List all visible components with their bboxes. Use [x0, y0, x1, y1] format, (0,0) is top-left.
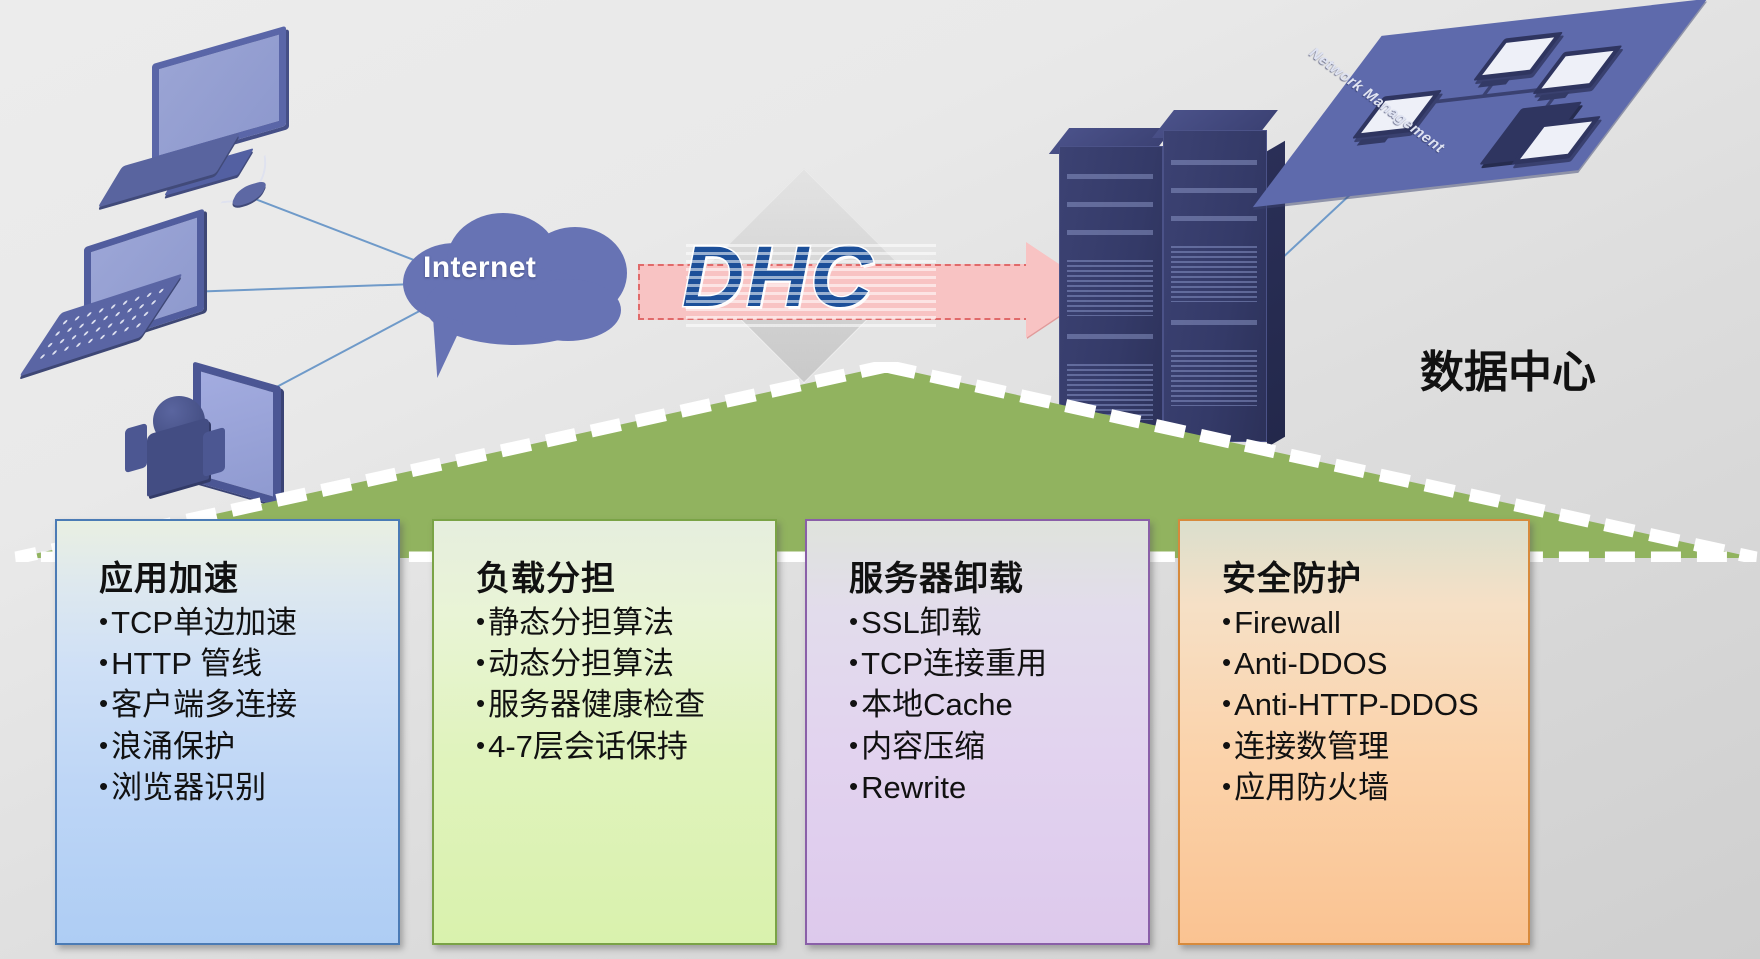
panel-server-offload[interactable]: 服务器卸载 SSL卸载 TCP连接重用 本地Cache 内容压缩 Rewrite: [805, 519, 1150, 945]
desktop-computer-icon: [110, 35, 290, 205]
list-item: HTTP 管线: [99, 643, 398, 684]
rack-slot: [1171, 188, 1257, 193]
list-item: 内容压缩: [849, 726, 1148, 767]
panel-title: 安全防护: [1222, 551, 1528, 602]
panel-feature-list: SSL卸载 TCP连接重用 本地Cache 内容压缩 Rewrite: [849, 602, 1148, 808]
list-item: SSL卸载: [849, 602, 1148, 643]
list-item: TCP连接重用: [849, 643, 1148, 684]
network-architecture-diagram: Internet DHC 数据中心: [0, 0, 1760, 959]
laptop-icon: [40, 228, 210, 348]
panel-title: 应用加速: [99, 551, 398, 602]
list-item: 应用防火墙: [1222, 767, 1528, 808]
list-item: 浪涌保护: [99, 726, 398, 767]
network-management-panel-icon: [1253, 0, 1707, 207]
list-item: 连接数管理: [1222, 726, 1528, 767]
list-item: Rewrite: [849, 767, 1148, 808]
list-item: TCP单边加速: [99, 602, 398, 643]
list-item: 服务器健康检查: [476, 684, 775, 725]
list-item: 浏览器识别: [99, 767, 398, 808]
nm-monitor-stand: [1357, 136, 1390, 145]
rack-slot: [1171, 216, 1257, 221]
rack-vent-left: [1067, 260, 1153, 316]
panel-feature-list: Firewall Anti-DDOS Anti-HTTP-DDOS 连接数管理 …: [1222, 602, 1528, 808]
rack-slot: [1171, 160, 1257, 165]
list-item: 动态分担算法: [476, 643, 775, 684]
panel-title: 服务器卸载: [849, 551, 1148, 602]
cloud-icon: Internet: [395, 205, 635, 365]
list-item: 静态分担算法: [476, 602, 775, 643]
cloud-lobe: [515, 279, 621, 341]
list-item: Anti-DDOS: [1222, 643, 1528, 684]
rack-slot: [1067, 230, 1153, 235]
rack-slot: [1171, 320, 1257, 325]
dhc-logo: DHC: [682, 228, 874, 327]
panel-application-acceleration[interactable]: 应用加速 TCP单边加速 HTTP 管线 客户端多连接 浪涌保护 浏览器识别: [55, 519, 400, 945]
nm-monitor-stand: [1478, 78, 1511, 87]
list-item: 客户端多连接: [99, 684, 398, 725]
rack-vent-right: [1171, 246, 1257, 302]
list-item: 4-7层会话保持: [476, 726, 775, 767]
rack-slot: [1067, 202, 1153, 207]
panel-feature-list: TCP单边加速 HTTP 管线 客户端多连接 浪涌保护 浏览器识别: [99, 602, 398, 808]
list-item: 本地Cache: [849, 684, 1148, 725]
rack-slot: [1067, 334, 1153, 339]
panel-security-protection[interactable]: 安全防护 Firewall Anti-DDOS Anti-HTTP-DDOS 连…: [1178, 519, 1530, 945]
panel-feature-list: 静态分担算法 动态分担算法 服务器健康检查 4-7层会话保持: [476, 602, 775, 767]
panel-title: 负载分担: [476, 551, 775, 602]
list-item: Anti-HTTP-DDOS: [1222, 684, 1528, 725]
panel-load-balancing[interactable]: 负载分担 静态分担算法 动态分担算法 服务器健康检查 4-7层会话保持: [432, 519, 777, 945]
list-item: Firewall: [1222, 602, 1528, 643]
rack-slot: [1067, 174, 1153, 179]
cloud-label: Internet: [423, 251, 536, 285]
